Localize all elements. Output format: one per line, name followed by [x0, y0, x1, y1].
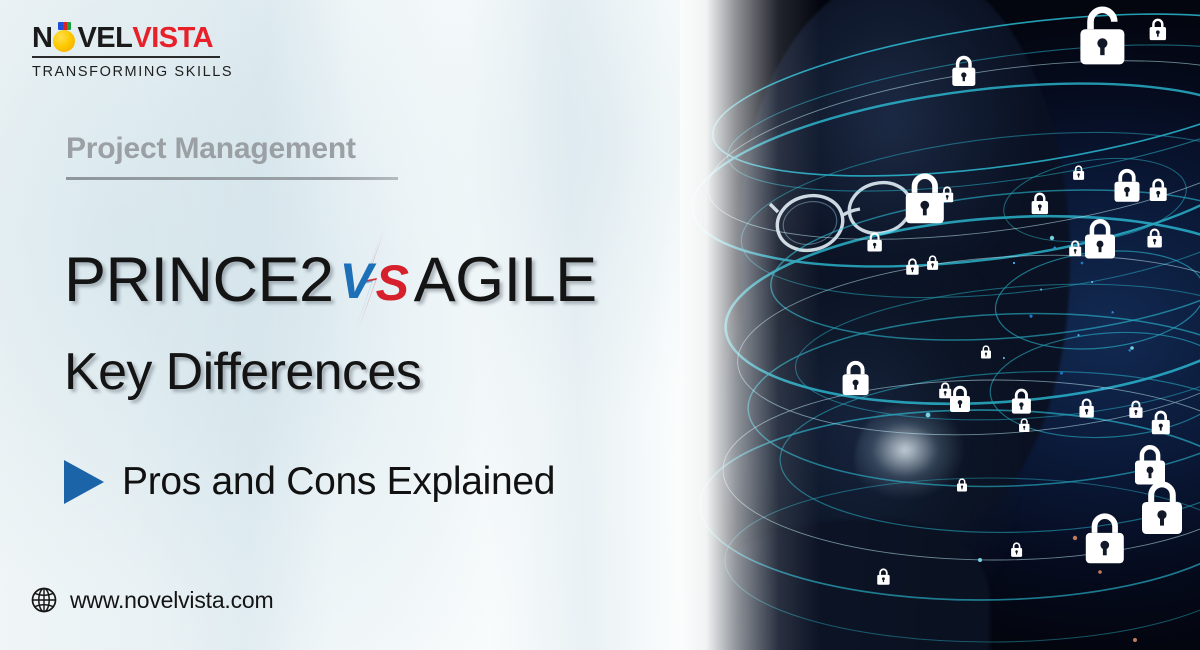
logo-text-vista: VISTA [132, 24, 213, 53]
logo-tagline: TRANSFORMING SKILLS [32, 64, 222, 80]
lightbulb-medal-icon [52, 26, 77, 51]
category-divider [66, 177, 398, 180]
versus-s: S [376, 258, 409, 308]
logo-cap-stripes [58, 22, 71, 30]
cybersecurity-photo [680, 0, 1200, 650]
logo-text-n: N [32, 24, 52, 53]
headline-left: PRINCE2 [64, 249, 334, 312]
category-label: Project Management [66, 132, 406, 165]
versus-v: V [340, 256, 373, 306]
headline-row: PRINCE2 V S AGILE [64, 230, 724, 330]
logo-wordmark: N VEL VISTA [32, 24, 222, 53]
headline-right: AGILE [414, 249, 597, 312]
versus-badge: V S [336, 230, 412, 330]
headline-block: PRINCE2 V S AGILE Key Differences [64, 230, 724, 398]
headline-subtitle: Key Differences [64, 346, 724, 398]
logo-divider [32, 56, 220, 58]
footer-block[interactable]: www.novelvista.com [30, 586, 273, 614]
novelvista-logo[interactable]: N VEL VISTA TRANSFORMING SKILLS [32, 24, 222, 80]
cta-block: Pros and Cons Explained [64, 460, 555, 504]
category-block: Project Management [66, 132, 406, 180]
website-url[interactable]: www.novelvista.com [70, 587, 273, 614]
logo-text-vel: VEL [77, 24, 132, 53]
play-triangle-icon [64, 460, 104, 504]
cta-text: Pros and Cons Explained [122, 460, 555, 504]
photo-edge-feather [680, 0, 1200, 650]
logo-bulb [53, 30, 75, 52]
globe-icon [30, 586, 58, 614]
blog-banner: N VEL VISTA TRANSFORMING SKILLS Project … [0, 0, 1200, 650]
